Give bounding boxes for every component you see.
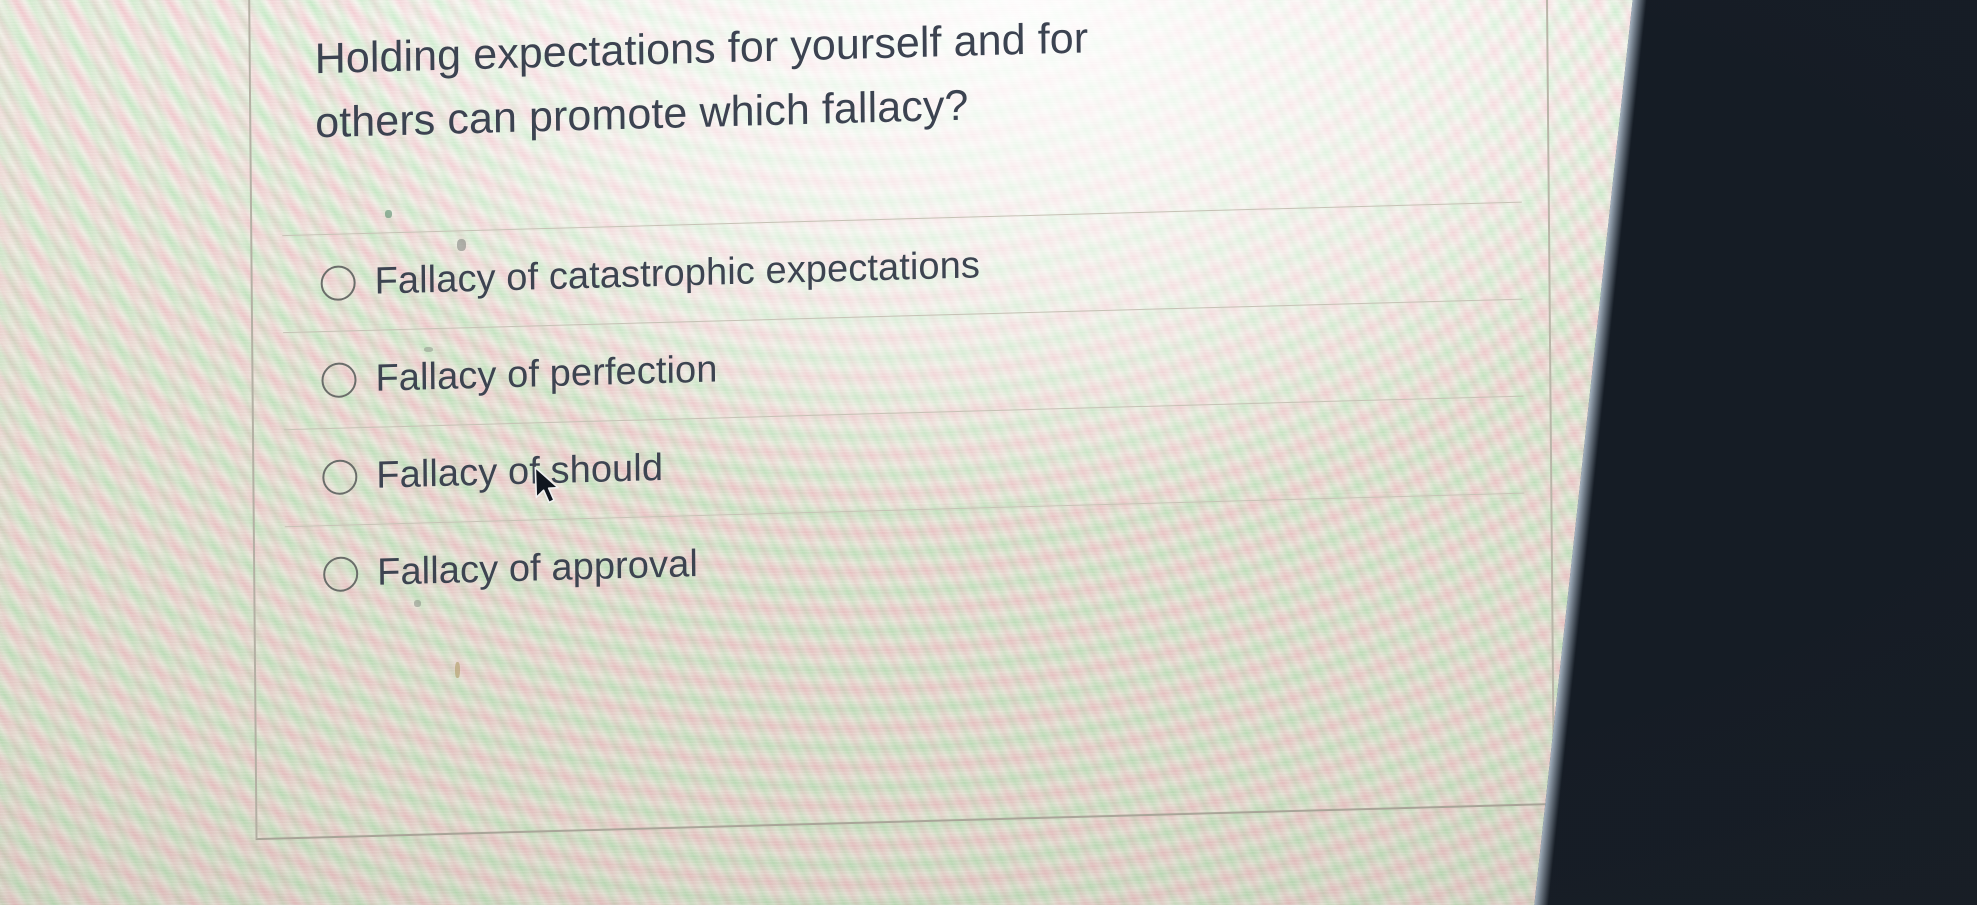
answer-options-list: Fallacy of catastrophic expectations Fal… <box>282 202 1525 624</box>
question-text: Holding expectations for yourself and fo… <box>314 6 1145 156</box>
question-card: Holding expectations for yourself and fo… <box>248 0 1555 840</box>
answer-option-label: Fallacy of should <box>376 446 663 497</box>
dust-speck <box>385 210 392 218</box>
dust-speck <box>414 600 421 607</box>
answer-option-label: Fallacy of perfection <box>375 348 717 400</box>
radio-button-icon[interactable] <box>322 459 357 495</box>
mouse-cursor-arrow-icon <box>533 465 564 508</box>
dust-speck <box>455 662 460 678</box>
radio-button-icon[interactable] <box>321 265 356 301</box>
radio-button-icon[interactable] <box>321 362 356 398</box>
answer-option-label: Fallacy of approval <box>377 543 698 595</box>
dust-speck <box>457 239 466 251</box>
radio-button-icon[interactable] <box>323 556 358 592</box>
dust-speck <box>424 347 433 352</box>
photograph-of-screen: Holding expectations for yourself and fo… <box>0 0 1977 905</box>
quiz-content-layer: Holding expectations for yourself and fo… <box>248 0 1615 878</box>
answer-option-label: Fallacy of catastrophic expectations <box>374 244 980 303</box>
